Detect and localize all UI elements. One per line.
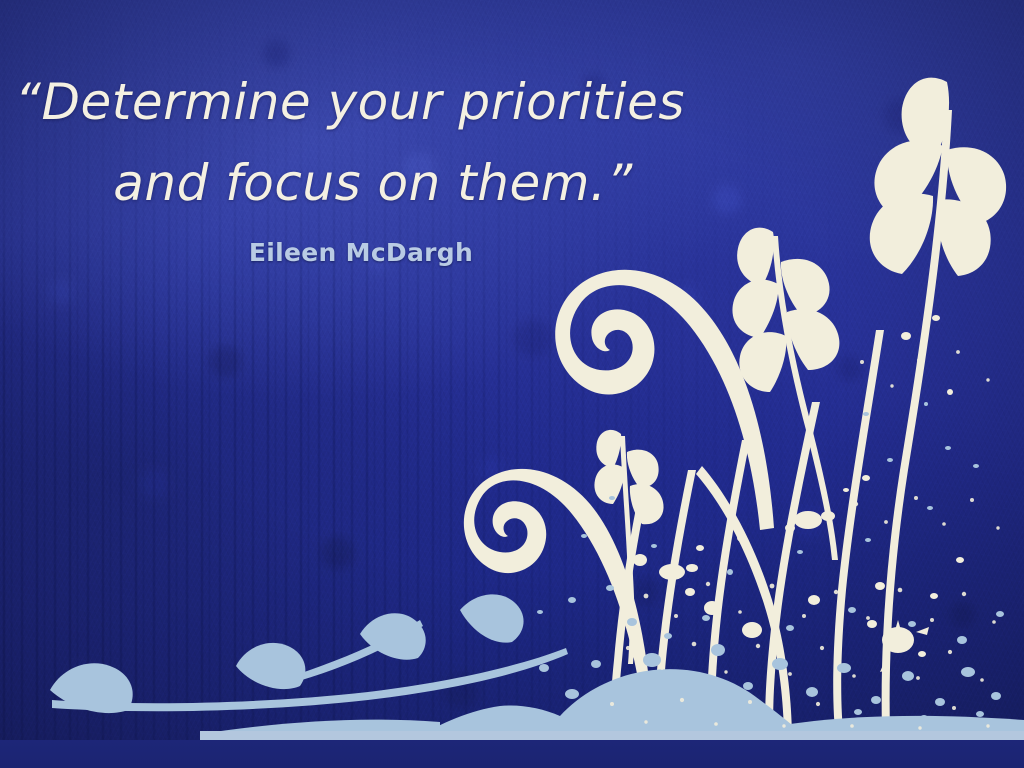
tall-leafy-stem-right bbox=[870, 78, 1006, 730]
quote-line-1: “Determine your priorities bbox=[0, 62, 700, 143]
leaf-sprig-lower bbox=[594, 430, 663, 664]
bottom-band bbox=[0, 740, 1024, 768]
arcing-stems bbox=[611, 330, 884, 740]
spiral-curl-large bbox=[555, 270, 774, 530]
artwork-lightblue-group bbox=[50, 402, 1024, 736]
leaf-sprig-upper bbox=[732, 228, 839, 560]
bottom-rule bbox=[200, 731, 1024, 740]
ground-mound bbox=[200, 669, 1024, 736]
paint-splatter-fine bbox=[610, 350, 1000, 730]
paint-splatter-cream bbox=[633, 315, 964, 672]
quote-text: “Determine your priorities and focus on … bbox=[0, 62, 700, 224]
vine-with-leaves-bottom-left bbox=[50, 594, 568, 713]
quote-block: “Determine your priorities and focus on … bbox=[0, 62, 700, 267]
quote-poster: “Determine your priorities and focus on … bbox=[0, 0, 1024, 768]
quote-author: Eileen McDargh bbox=[22, 238, 700, 267]
spiral-curl-small bbox=[464, 469, 650, 690]
paint-splatter-lightblue bbox=[537, 402, 1004, 721]
quote-line-2: and focus on them.” bbox=[0, 143, 700, 224]
